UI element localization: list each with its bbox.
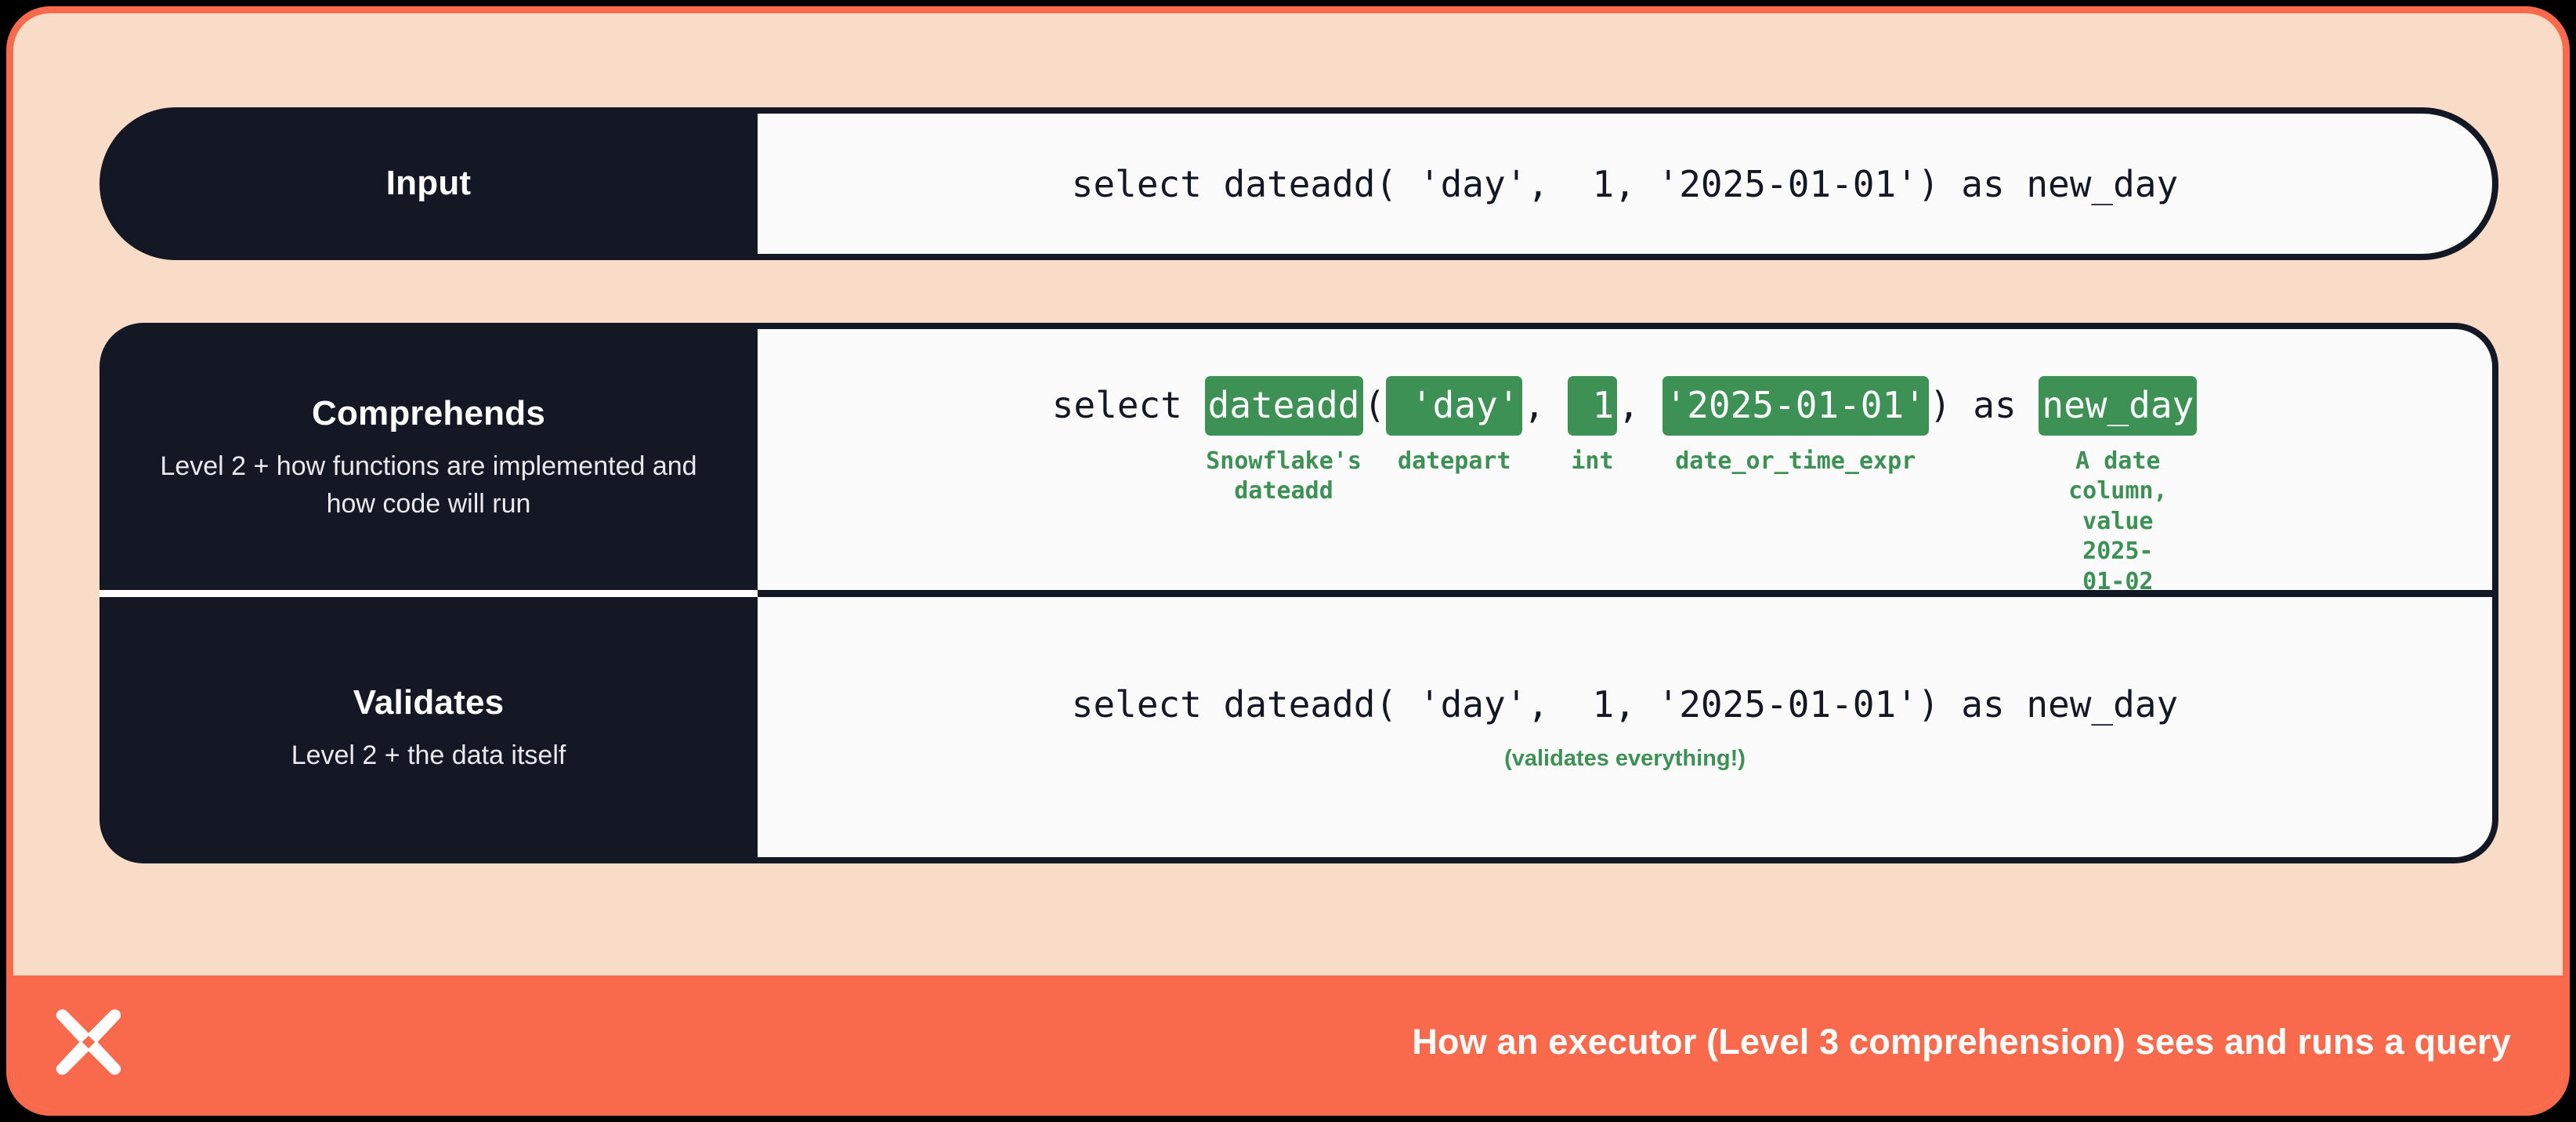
row-comprehends-label-cell: Comprehends Level 2 + how functions are … <box>99 323 758 593</box>
row-validates-code: select dateadd( 'day', 1, '2025-01-01') … <box>1072 683 2178 726</box>
code-token-highlighted: 'day' <box>1386 376 1522 436</box>
row-validates-note: (validates everything!) <box>1504 746 1746 772</box>
row-input: Input select dateadd( 'day', 1, '2025-01… <box>99 107 2498 260</box>
footer-caption: How an executor (Level 3 comprehension) … <box>126 1022 2563 1062</box>
comprehends-code-stack: select dateadd( 'day', 1, '2025-01-01') … <box>758 376 2492 533</box>
row-comprehends-title: Comprehends <box>312 393 545 435</box>
row-comprehends-annotations: Snowflake's dateadddatepartintdate_or_ti… <box>1052 447 2198 533</box>
code-token: , <box>1523 384 1566 426</box>
row-validates-label-cell: Validates Level 2 + the data itself <box>99 593 758 863</box>
code-annotation: Snowflake's dateadd <box>1206 447 1362 507</box>
code-token-highlighted: '2025-01-01' <box>1662 376 1929 436</box>
code-annotation: date_or_time_expr <box>1675 447 1916 476</box>
lower-left-column: Comprehends Level 2 + how functions are … <box>99 323 758 863</box>
code-token-highlighted: 1 <box>1568 376 1617 436</box>
code-token: ( <box>1364 384 1386 426</box>
code-token-highlighted: new_day <box>2039 376 2197 436</box>
row-input-code: select dateadd( 'day', 1, '2025-01-01') … <box>1072 163 2178 205</box>
validates-code-stack: select dateadd( 'day', 1, '2025-01-01') … <box>758 597 2492 858</box>
code-annotation: A date column, value 2025-01-02 <box>2068 447 2167 597</box>
code-token: , <box>1618 384 1661 426</box>
rows-lower-block: Comprehends Level 2 + how functions are … <box>99 323 2498 863</box>
code-annotation: datepart <box>1398 447 1511 476</box>
row-validates-title: Validates <box>353 682 505 724</box>
rows-area: Input select dateadd( 'day', 1, '2025-01… <box>92 107 2498 891</box>
code-token: ) as <box>1930 384 2038 426</box>
footer-bar: How an executor (Level 3 comprehension) … <box>13 975 2563 1109</box>
row-input-label-cell: Input <box>99 107 758 260</box>
code-token-highlighted: dateadd <box>1205 376 1363 436</box>
row-input-code-cell: select dateadd( 'day', 1, '2025-01-01') … <box>758 107 2498 260</box>
main-card: Input select dateadd( 'day', 1, '2025-01… <box>6 6 2570 1116</box>
row-comprehends-code-cell: select dateadd( 'day', 1, '2025-01-01') … <box>758 329 2492 590</box>
row-validates-subtitle: Level 2 + the data itself <box>291 737 566 774</box>
code-token: select <box>1052 384 1204 426</box>
code-annotation: int <box>1571 447 1613 476</box>
screenshot-frame: Input select dateadd( 'day', 1, '2025-01… <box>0 0 2576 1122</box>
lower-left-divider <box>99 590 758 597</box>
x-star-logo <box>51 1004 126 1080</box>
lower-right-divider <box>758 590 2492 597</box>
row-comprehends-code: select dateadd( 'day', 1, '2025-01-01') … <box>1052 376 2198 436</box>
row-validates-code-cell: select dateadd( 'day', 1, '2025-01-01') … <box>758 597 2492 858</box>
row-input-title: Input <box>386 163 472 204</box>
lower-right-column: select dateadd( 'day', 1, '2025-01-01') … <box>758 323 2498 863</box>
row-comprehends-subtitle: Level 2 + how functions are implemented … <box>136 447 722 523</box>
